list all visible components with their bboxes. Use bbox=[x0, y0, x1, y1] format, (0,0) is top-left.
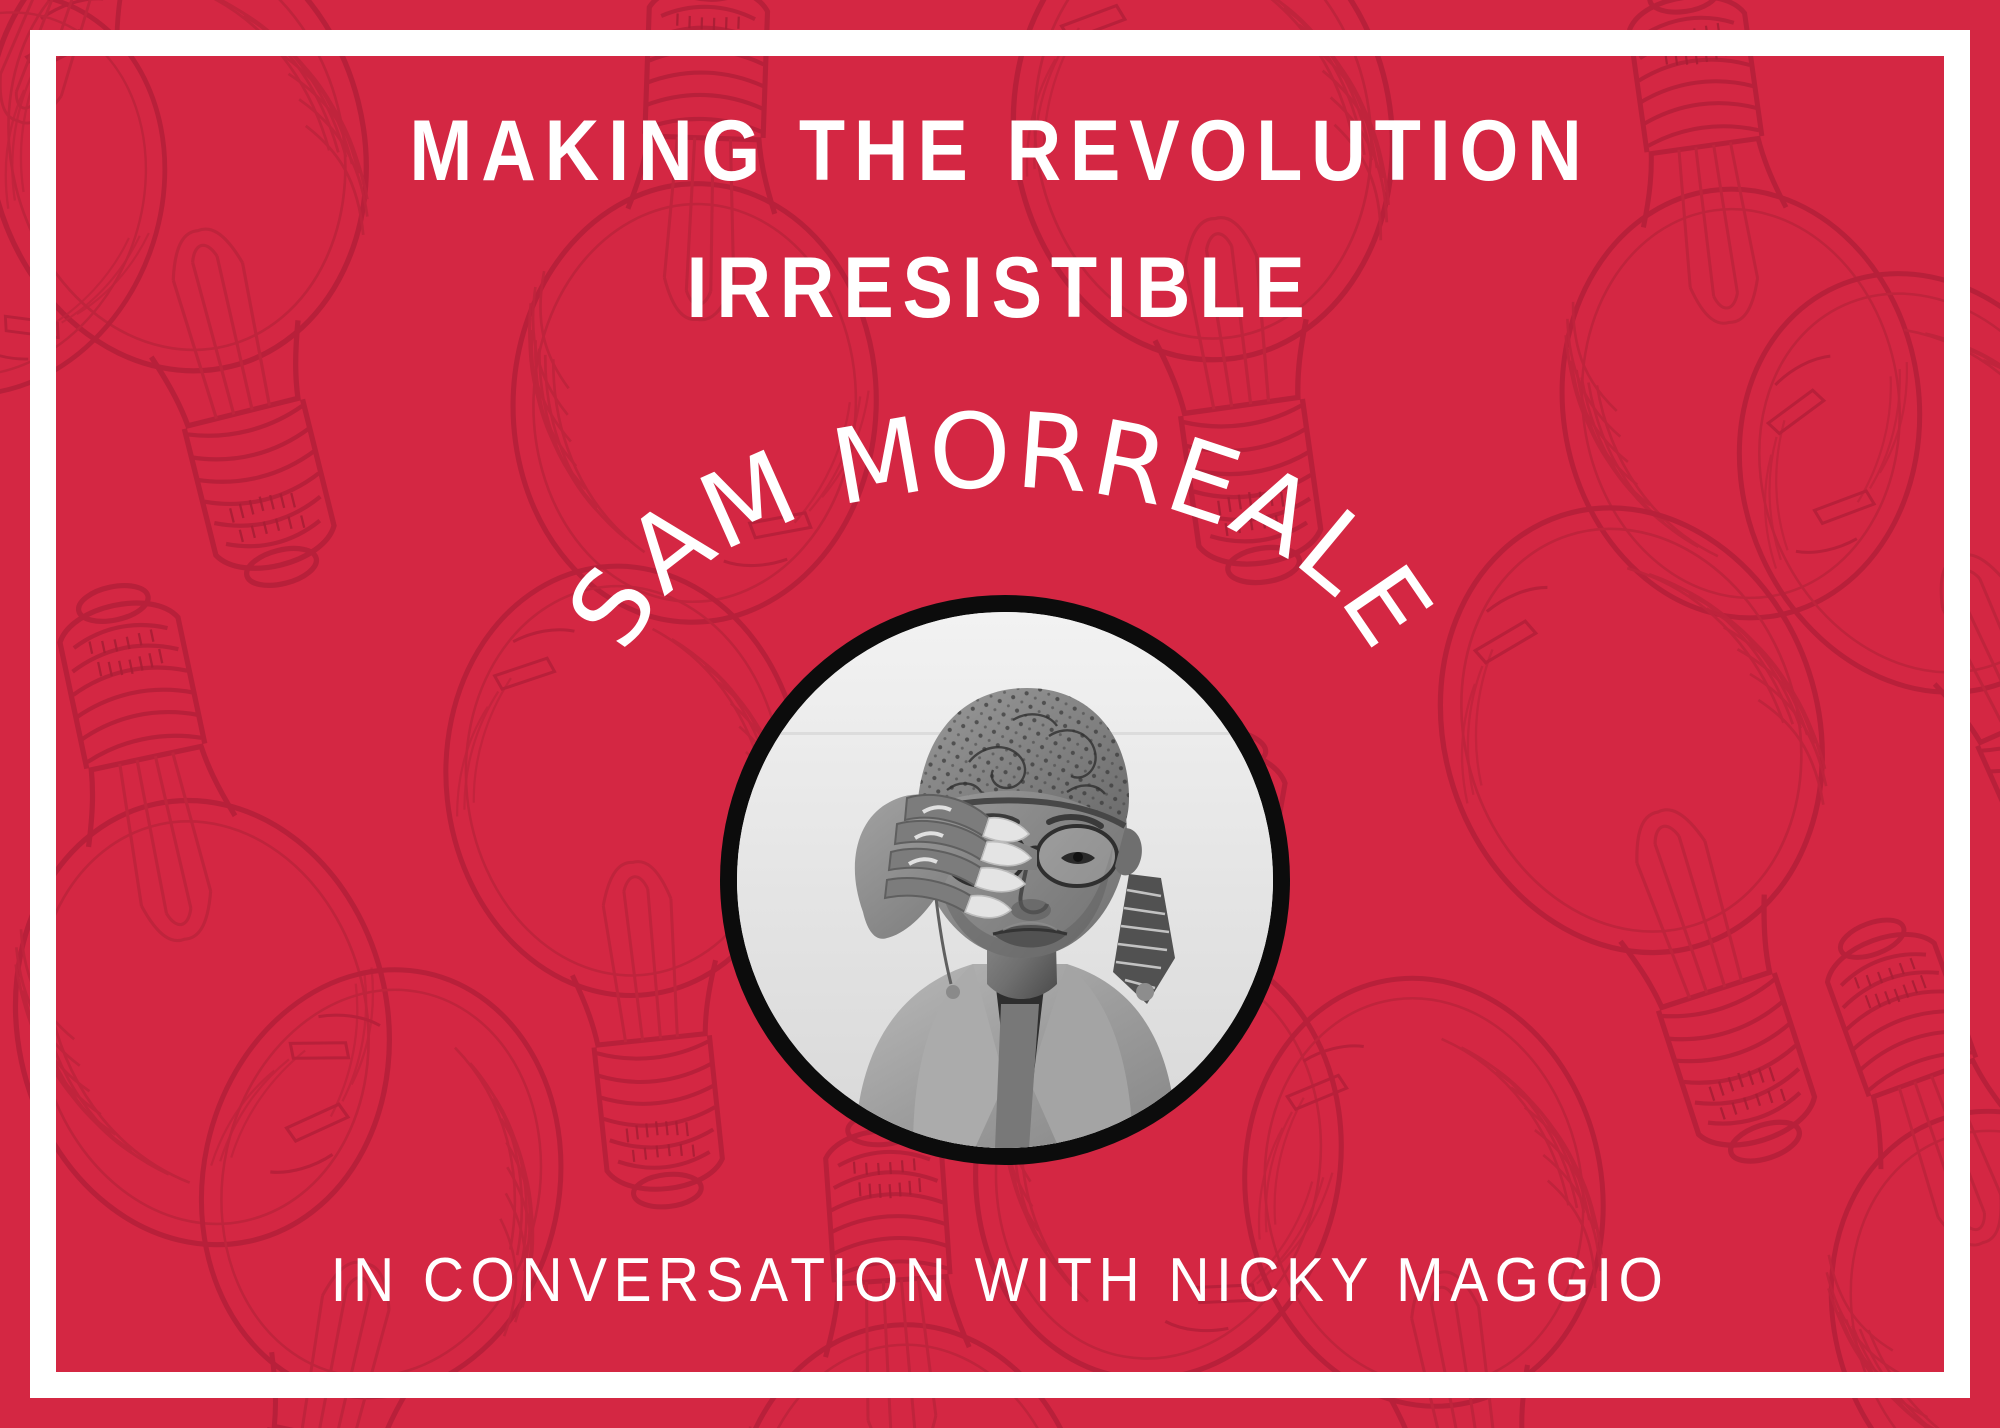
speaker-portrait-circle bbox=[720, 595, 1290, 1165]
subtitle-in-conversation-with: IN CONVERSATION WITH NICKY MAGGIO bbox=[80, 1245, 1920, 1316]
speaker-portrait-image bbox=[737, 612, 1273, 1148]
poster-content: MAKING THE REVOLUTION IRRESISTIBLE SAM M… bbox=[0, 0, 2000, 1428]
poster-canvas: MAKING THE REVOLUTION IRRESISTIBLE SAM M… bbox=[0, 0, 2000, 1428]
page-title-line-2: IRRESISTIBLE bbox=[120, 245, 1880, 331]
page-title-line-1: MAKING THE REVOLUTION bbox=[120, 108, 1880, 194]
